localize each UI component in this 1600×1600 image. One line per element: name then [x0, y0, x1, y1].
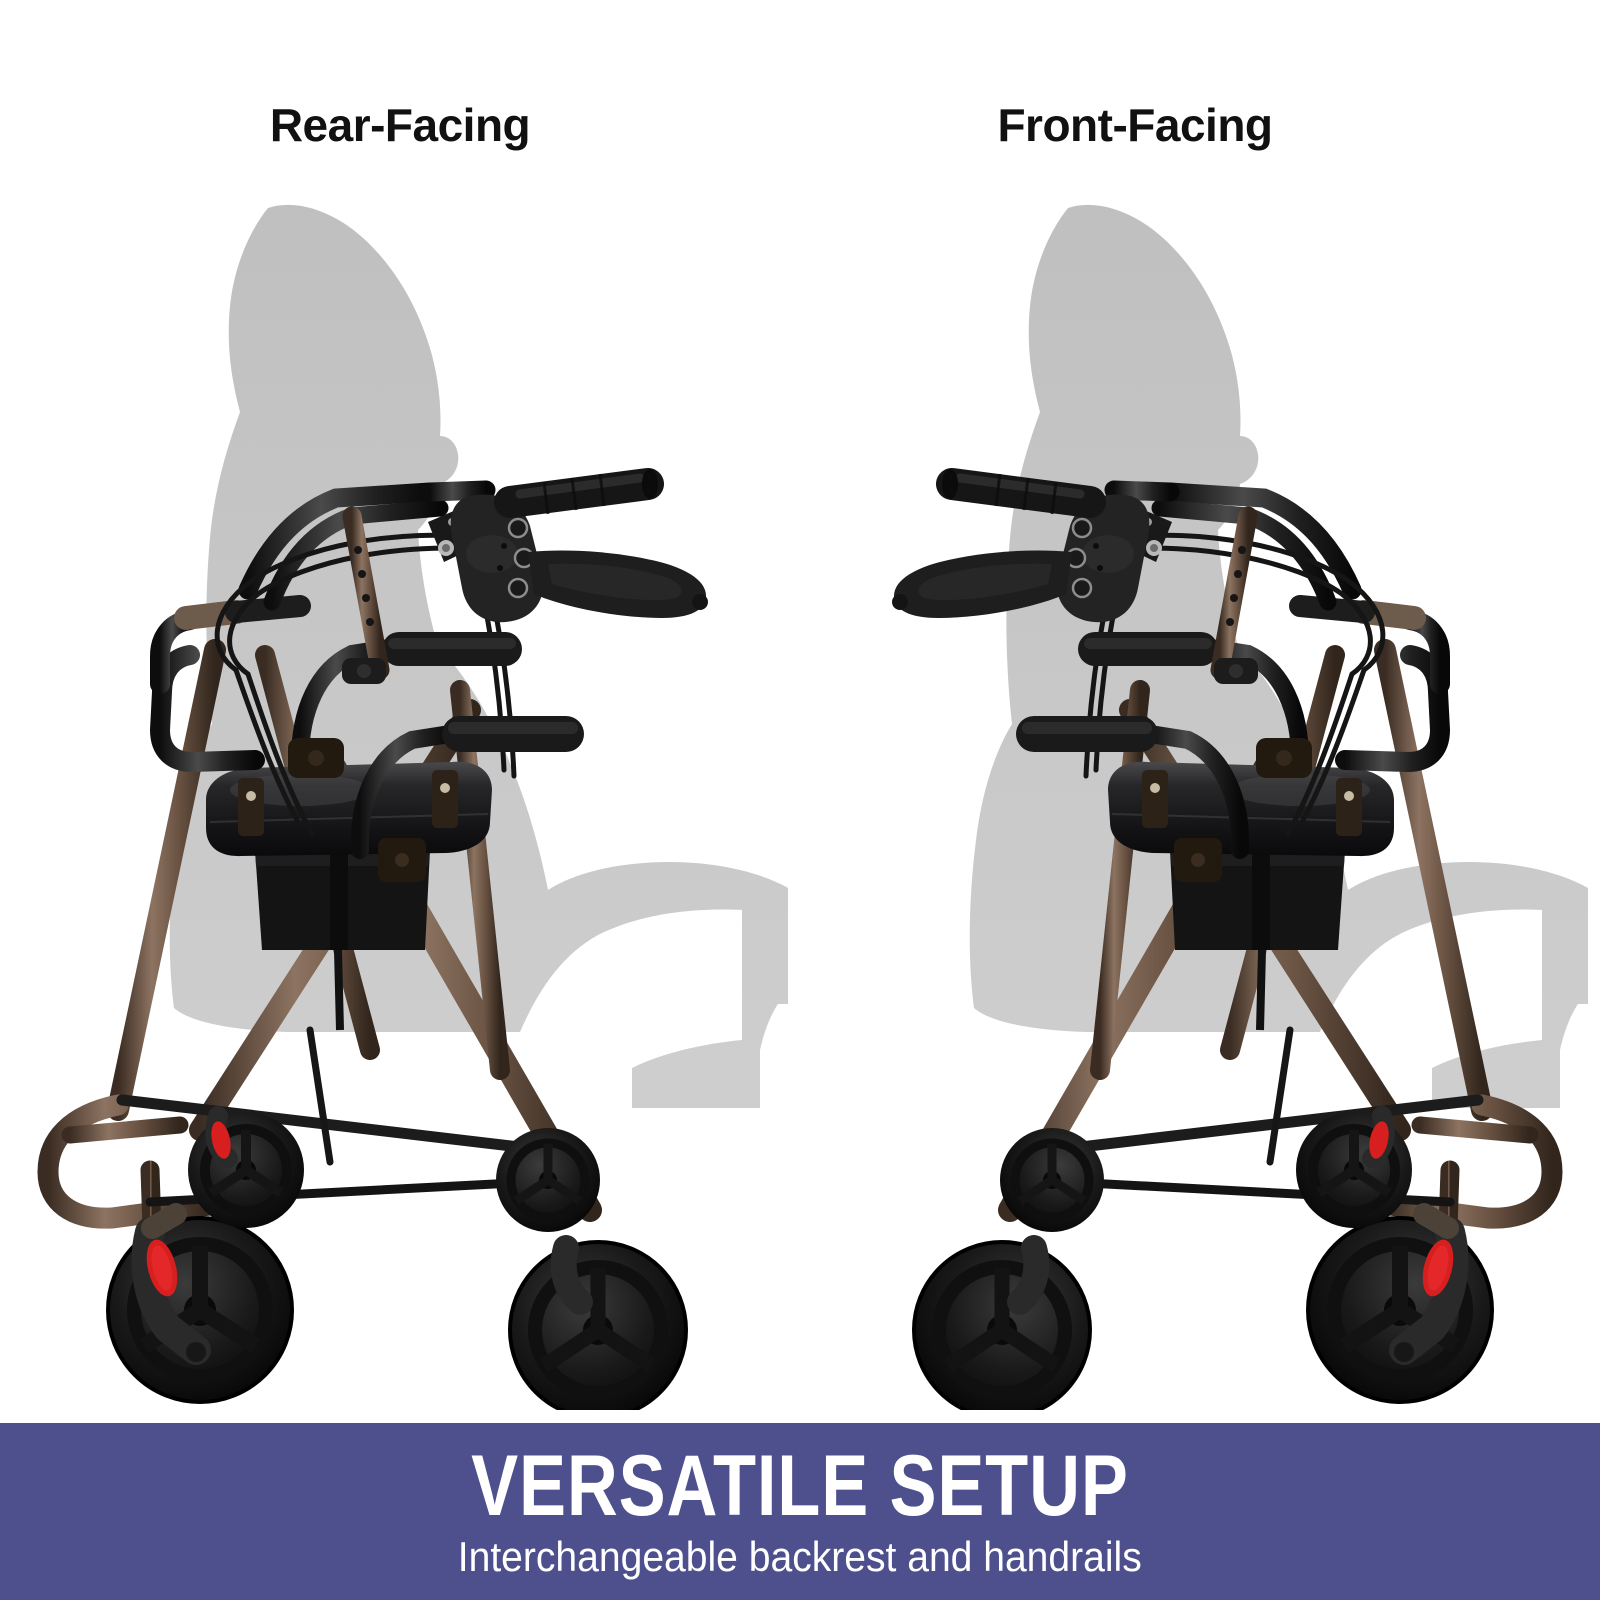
front-caster-wheel [1308, 1214, 1492, 1402]
handgrip [510, 469, 658, 514]
product-marketing-image: Rear-Facing Front-Facing [0, 0, 1600, 1600]
mid-wheel-rear [1000, 1128, 1104, 1232]
product-panel-rear-facing [0, 150, 800, 1410]
mid-wheel-front [1296, 1112, 1412, 1228]
product-panel-front-facing [800, 150, 1600, 1410]
banner-title: VERSATILE SETUP [471, 1443, 1129, 1529]
panel-label-front-facing: Front-Facing [835, 98, 1435, 152]
banner-subtitle: Interchangeable backrest and handrails [458, 1533, 1142, 1581]
front-caster-wheel [108, 1214, 292, 1402]
rear-wheel [914, 1242, 1090, 1410]
seated-person-silhouette [970, 205, 1588, 1108]
mid-wheel-rear [496, 1128, 600, 1232]
mid-wheel-front [188, 1112, 304, 1228]
panel-label-rear-facing: Rear-Facing [100, 98, 700, 152]
rollator-walker [48, 469, 708, 1410]
brake-lever [528, 550, 708, 618]
rear-wheel [510, 1242, 686, 1410]
feature-banner: VERSATILE SETUP Interchangeable backrest… [0, 1423, 1600, 1600]
